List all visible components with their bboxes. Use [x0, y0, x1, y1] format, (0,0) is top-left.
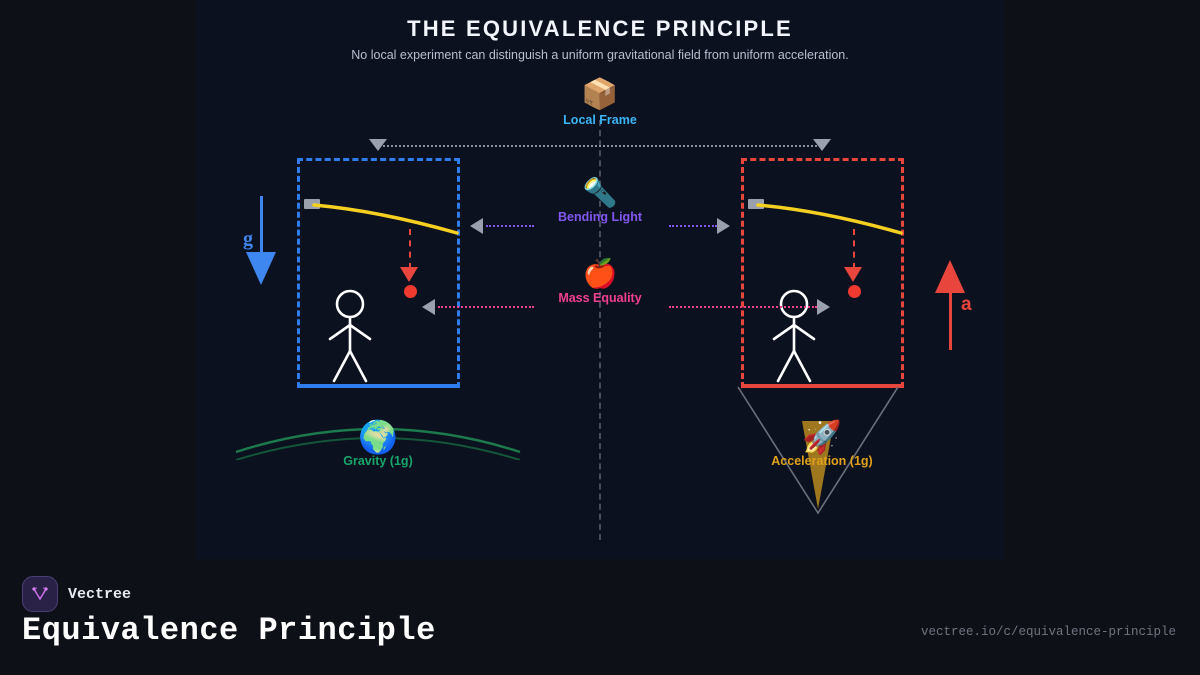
- brand-block: Vectree: [22, 576, 131, 612]
- flashlight-icon: 🔦: [196, 178, 1004, 208]
- mass-equality-line-left: [438, 306, 534, 308]
- page-title: THE EQUIVALENCE PRINCIPLE: [196, 16, 1004, 42]
- package-box-icon: 📦: [196, 80, 1004, 110]
- mass-equality-line-right: [669, 306, 817, 308]
- connector-mass-equality-label: Mass Equality: [196, 291, 1004, 305]
- bending-light-arrow-right-icon: [717, 218, 730, 234]
- apple-icon: 🍎: [196, 259, 1004, 289]
- gravity-source-label: Gravity (1g): [278, 454, 478, 468]
- acceleration-source: 🚀 Acceleration (1g): [722, 420, 922, 468]
- connector-bending-light: 🔦 Bending Light: [196, 178, 1004, 224]
- bending-light-line-left: [486, 225, 534, 227]
- acceleration-source-label: Acceleration (1g): [722, 454, 922, 468]
- earth-globe-icon: 🌍: [278, 420, 478, 454]
- page-subtitle: No local experiment can distinguish a un…: [196, 48, 1004, 62]
- mass-equality-arrow-left-icon: [422, 299, 435, 315]
- span-arrow-right-icon: [813, 139, 831, 151]
- rocket-icon: 🚀: [722, 420, 922, 454]
- local-frame-span-line: [378, 145, 821, 147]
- bending-light-arrow-left-icon: [470, 218, 483, 234]
- connector-bending-light-label: Bending Light: [196, 210, 1004, 224]
- bending-light-line-right: [669, 225, 717, 227]
- vectree-logo-icon: [22, 576, 58, 612]
- footer-title: Equivalence Principle: [22, 612, 436, 649]
- brand-name: Vectree: [68, 586, 131, 603]
- mass-equality-arrow-right-icon: [817, 299, 830, 315]
- footer-url: vectree.io/c/equivalence-principle: [921, 625, 1176, 639]
- gravity-source: 🌍 Gravity (1g): [278, 420, 478, 468]
- span-arrow-left-icon: [369, 139, 387, 151]
- diagram-stage: THE EQUIVALENCE PRINCIPLE No local exper…: [196, 0, 1004, 559]
- footer-bar: Vectree Equivalence Principle vectree.io…: [0, 559, 1200, 675]
- connector-mass-equality: 🍎 Mass Equality: [196, 259, 1004, 305]
- gravity-vector-label: g: [243, 228, 253, 251]
- screenshot-root: THE EQUIVALENCE PRINCIPLE No local exper…: [0, 0, 1200, 675]
